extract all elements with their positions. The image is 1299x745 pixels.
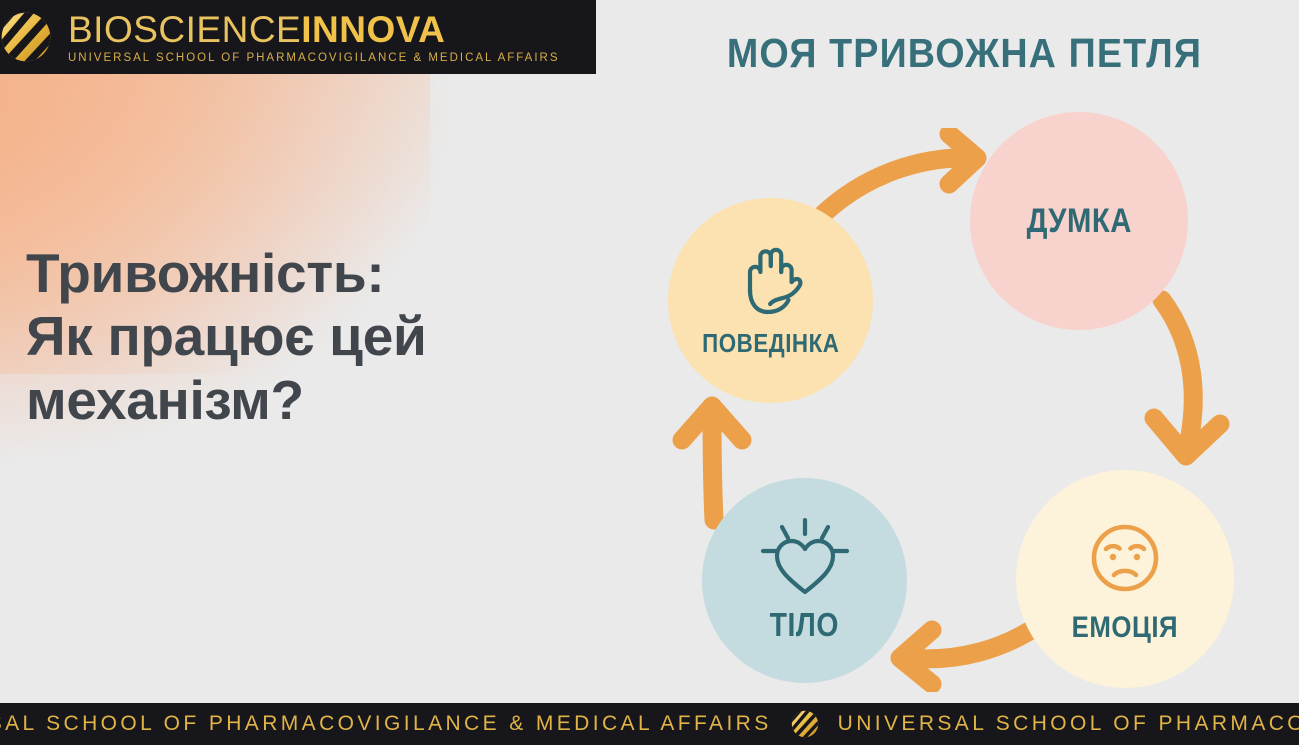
diagram-title: МОЯ ТРИВОЖНА ПЕТЛЯ (657, 30, 1272, 77)
ticker-track: UNIVERSAL SCHOOL OF PHARMACOVIGILANCE & … (0, 709, 1299, 739)
slide-headline: Тривожність: Як працює цей механізм? (26, 242, 586, 432)
pulsing-heart-icon (753, 518, 857, 604)
sad-face-icon (1078, 513, 1172, 607)
ticker-text: UNIVERSAL SCHOOL OF PHARMACOVIGILANCE & … (838, 712, 1299, 736)
loop-node-emotion-label: ЕМОЦІЯ (1072, 611, 1178, 645)
brand-logo-bar: BIOSCIENCEINNOVA UNIVERSAL SCHOOL OF PHA… (0, 0, 596, 74)
bottom-ticker-bar: UNIVERSAL SCHOOL OF PHARMACOVIGILANCE & … (0, 703, 1299, 745)
arrow-thought-to-emotion (1130, 288, 1260, 478)
brand-logo-text: BIOSCIENCEINNOVA UNIVERSAL SCHOOL OF PHA… (68, 11, 560, 64)
loop-node-thought[interactable]: ДУМКА (970, 112, 1188, 330)
slide-canvas: BIOSCIENCEINNOVA UNIVERSAL SCHOOL OF PHA… (0, 0, 1299, 745)
brand-tagline: UNIVERSAL SCHOOL OF PHARMACOVIGILANCE & … (68, 52, 560, 64)
raised-hand-icon (734, 242, 808, 322)
loop-node-behavior[interactable]: ПОВЕДІНКА (668, 198, 873, 403)
loop-node-emotion[interactable]: ЕМОЦІЯ (1016, 470, 1234, 688)
ticker-text: UNIVERSAL SCHOOL OF PHARMACOVIGILANCE & … (0, 712, 772, 736)
brand-name-bold: INNOVA (301, 9, 445, 50)
globe-stripes-icon (790, 709, 820, 739)
globe-stripes-icon (0, 5, 58, 69)
anxiety-loop-diagram: МОЯ ТРИВОЖНА ПЕТЛЯ ДУМКА (630, 0, 1299, 700)
loop-node-behavior-label: ПОВЕДІНКА (702, 328, 839, 359)
loop-node-body[interactable]: ТІЛО (702, 478, 907, 683)
brand-name: BIOSCIENCEINNOVA (68, 11, 560, 48)
brand-name-light: BIOSCIENCE (68, 9, 301, 50)
loop-node-thought-label: ДУМКА (1026, 202, 1131, 241)
loop-node-body-label: ТІЛО (770, 606, 839, 644)
